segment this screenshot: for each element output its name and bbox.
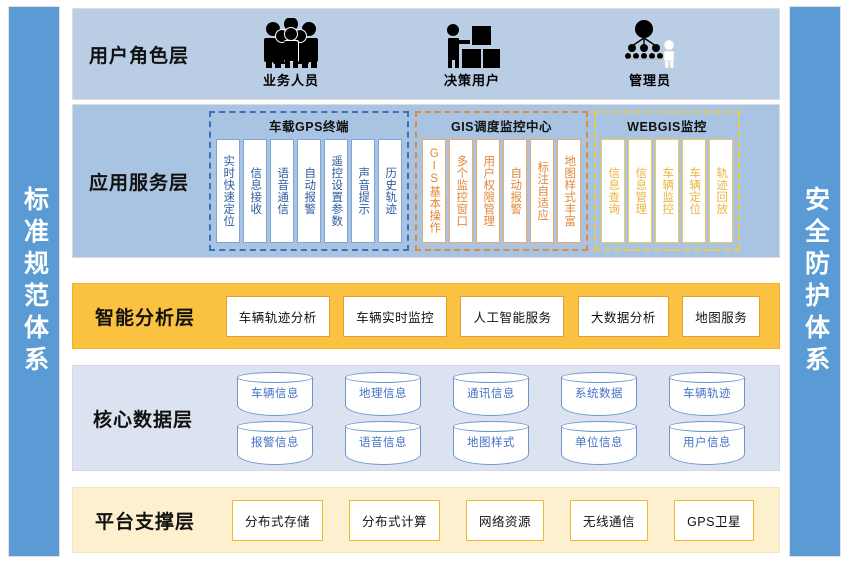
service-item[interactable]: 自动报警 — [503, 139, 527, 243]
left-pillar-label: 标准规范体系 — [22, 186, 47, 378]
database-label: 系统数据 — [561, 385, 637, 401]
analysis-item[interactable]: 车辆实时监控 — [343, 296, 447, 337]
database-label: 地理信息 — [345, 385, 421, 401]
cylinder-top — [669, 421, 745, 432]
platform-item[interactable]: 无线通信 — [570, 500, 648, 541]
layer-application-service: 应用服务层 车载GPS终端 实时快速定位 信息接收 语音通信 自动报警 遥控设置… — [72, 104, 780, 258]
database-label: 通讯信息 — [453, 385, 529, 401]
role-label: 管理员 — [629, 70, 671, 89]
service-item-label: 实时快速定位 — [222, 155, 234, 227]
database-cylinder[interactable]: 单位信息 — [561, 421, 637, 465]
service-item[interactable]: 信息查询 — [601, 139, 625, 243]
analysis-item[interactable]: 大数据分析 — [578, 296, 669, 337]
service-item[interactable]: 地图样式丰富 — [557, 139, 581, 243]
database-label: 报警信息 — [237, 434, 313, 450]
database-cylinder[interactable]: 用户信息 — [669, 421, 745, 465]
service-item-label: GIS基本操作 — [428, 148, 440, 234]
database-label: 车辆信息 — [237, 385, 313, 401]
layer-core-data: 核心数据层 车辆信息 地理信息 通讯信息 — [72, 365, 780, 471]
cylinder-top — [237, 421, 313, 432]
service-item-label: 多个监控窗口 — [455, 155, 467, 227]
group-item-list: GIS基本操作 多个监控窗口 用户权限管理 自动报警 标注自适应 地图样式丰富 — [422, 139, 581, 243]
database-cylinder[interactable]: 通讯信息 — [453, 372, 529, 416]
layer-intelligent-analysis-title: 智能分析层 — [95, 303, 223, 330]
service-item[interactable]: 自动报警 — [297, 139, 321, 243]
cylinder-top — [237, 372, 313, 383]
service-item-label: 遥控设置参数 — [330, 155, 342, 227]
database-cylinder[interactable]: 系统数据 — [561, 372, 637, 416]
service-item[interactable]: 标注自适应 — [530, 139, 554, 243]
service-item-label: 自动报警 — [303, 167, 315, 215]
application-groups: 车载GPS终端 实时快速定位 信息接收 语音通信 自动报警 遥控设置参数 声音提… — [209, 105, 779, 257]
left-pillar-standard-system: 标准规范体系 — [8, 6, 60, 557]
service-item-label: 标注自适应 — [536, 161, 548, 221]
service-item-label: 自动报警 — [509, 167, 521, 215]
layer-platform-support-title: 平台支撑层 — [95, 507, 223, 534]
cylinder-top — [561, 372, 637, 383]
group-title: GIS调度监控中心 — [422, 116, 581, 135]
service-item[interactable]: 信息接收 — [243, 139, 267, 243]
platform-item[interactable]: GPS卫星 — [674, 500, 754, 541]
service-item[interactable]: 声音提示 — [351, 139, 375, 243]
platform-item[interactable]: 分布式存储 — [232, 500, 323, 541]
cylinder-top — [669, 372, 745, 383]
database-cylinder[interactable]: 车辆轨迹 — [669, 372, 745, 416]
cylinder-top — [345, 372, 421, 383]
group-item-list: 信息查询 信息管理 车辆监控 车辆定位 轨迹回放 — [601, 139, 733, 243]
architecture-diagram: 标准规范体系 安全防护体系 用户角色层 — [0, 0, 849, 563]
layer-user-role-title: 用户角色层 — [89, 41, 189, 68]
group-title: 车载GPS终端 — [216, 116, 402, 135]
service-item[interactable]: 轨迹回放 — [709, 139, 733, 243]
service-item[interactable]: 多个监控窗口 — [449, 139, 473, 243]
platform-item[interactable]: 分布式计算 — [349, 500, 440, 541]
cylinder-top — [345, 421, 421, 432]
role-decision-user: 决策用户 — [444, 9, 500, 95]
core-data-row: 报警信息 语音信息 地图样式 单位信息 — [225, 421, 757, 465]
service-item[interactable]: 车辆定位 — [682, 139, 706, 243]
platform-item[interactable]: 网络资源 — [466, 500, 544, 541]
service-item-label: 声音提示 — [357, 167, 369, 215]
right-pillar-security-system: 安全防护体系 — [789, 6, 841, 557]
database-label: 单位信息 — [561, 434, 637, 450]
cylinder-top — [453, 372, 529, 383]
role-label: 决策用户 — [444, 70, 500, 89]
service-item-label: 信息接收 — [249, 167, 261, 215]
person-with-blocks-icon — [444, 16, 500, 68]
core-data-stores: 车辆信息 地理信息 通讯信息 系统数据 — [225, 367, 779, 470]
analysis-item[interactable]: 人工智能服务 — [460, 296, 564, 337]
service-item-label: 信息管理 — [634, 167, 646, 215]
group-item-list: 实时快速定位 信息接收 语音通信 自动报警 遥控设置参数 声音提示 历史轨迹 — [216, 139, 402, 243]
service-item-label: 轨迹回放 — [715, 167, 727, 215]
layer-application-service-title: 应用服务层 — [89, 168, 209, 195]
role-administrator: 管理员 — [622, 9, 678, 95]
database-label: 语音信息 — [345, 434, 421, 450]
core-data-row: 车辆信息 地理信息 通讯信息 系统数据 — [225, 372, 757, 416]
database-cylinder[interactable]: 车辆信息 — [237, 372, 313, 416]
layer-intelligent-analysis: 智能分析层 车辆轨迹分析 车辆实时监控 人工智能服务 大数据分析 地图服务 — [72, 283, 780, 349]
service-item[interactable]: 遥控设置参数 — [324, 139, 348, 243]
service-item[interactable]: 信息管理 — [628, 139, 652, 243]
layer-platform-support: 平台支撑层 分布式存储 分布式计算 网络资源 无线通信 GPS卫星 — [72, 487, 780, 553]
role-label: 业务人员 — [263, 70, 319, 89]
service-item-label: 历史轨迹 — [384, 167, 396, 215]
platform-support-items: 分布式存储 分布式计算 网络资源 无线通信 GPS卫星 — [223, 500, 779, 541]
service-item-label: 车辆监控 — [661, 167, 673, 215]
layer-user-role: 用户角色层 — [72, 8, 780, 100]
database-cylinder[interactable]: 报警信息 — [237, 421, 313, 465]
cylinder-top — [561, 421, 637, 432]
database-cylinder[interactable]: 地理信息 — [345, 372, 421, 416]
service-item[interactable]: GIS基本操作 — [422, 139, 446, 243]
org-hierarchy-person-icon — [622, 16, 678, 68]
database-label: 用户信息 — [669, 434, 745, 450]
service-item[interactable]: 用户权限管理 — [476, 139, 500, 243]
database-label: 车辆轨迹 — [669, 385, 745, 401]
service-item[interactable]: 车辆监控 — [655, 139, 679, 243]
group-title: WEBGIS监控 — [601, 116, 733, 135]
group-gis-dispatch-center: GIS调度监控中心 GIS基本操作 多个监控窗口 用户权限管理 自动报警 标注自… — [415, 111, 588, 251]
right-pillar-label: 安全防护体系 — [803, 186, 828, 378]
service-item[interactable]: 语音通信 — [270, 139, 294, 243]
group-vehicle-gps-terminal: 车载GPS终端 实时快速定位 信息接收 语音通信 自动报警 遥控设置参数 声音提… — [209, 111, 409, 251]
service-item-label: 地图样式丰富 — [563, 155, 575, 227]
database-cylinder[interactable]: 语音信息 — [345, 421, 421, 465]
layer-core-data-title: 核心数据层 — [93, 405, 225, 432]
service-item-label: 信息查询 — [607, 167, 619, 215]
service-item-label: 用户权限管理 — [482, 155, 494, 227]
analysis-item[interactable]: 车辆轨迹分析 — [226, 296, 330, 337]
service-item-label: 车辆定位 — [688, 167, 700, 215]
user-role-list: 业务人员 决 — [189, 9, 779, 99]
database-cylinder[interactable]: 地图样式 — [453, 421, 529, 465]
group-webgis-monitoring: WEBGIS监控 信息查询 信息管理 车辆监控 车辆定位 轨迹回放 — [594, 111, 740, 251]
intelligent-analysis-items: 车辆轨迹分析 车辆实时监控 人工智能服务 大数据分析 地图服务 — [223, 296, 779, 337]
database-label: 地图样式 — [453, 434, 529, 450]
service-item[interactable]: 实时快速定位 — [216, 139, 240, 243]
role-business-staff: 业务人员 — [260, 9, 322, 95]
service-item[interactable]: 历史轨迹 — [378, 139, 402, 243]
group-of-people-icon — [260, 16, 322, 68]
analysis-item[interactable]: 地图服务 — [682, 296, 760, 337]
service-item-label: 语音通信 — [276, 167, 288, 215]
cylinder-top — [453, 421, 529, 432]
